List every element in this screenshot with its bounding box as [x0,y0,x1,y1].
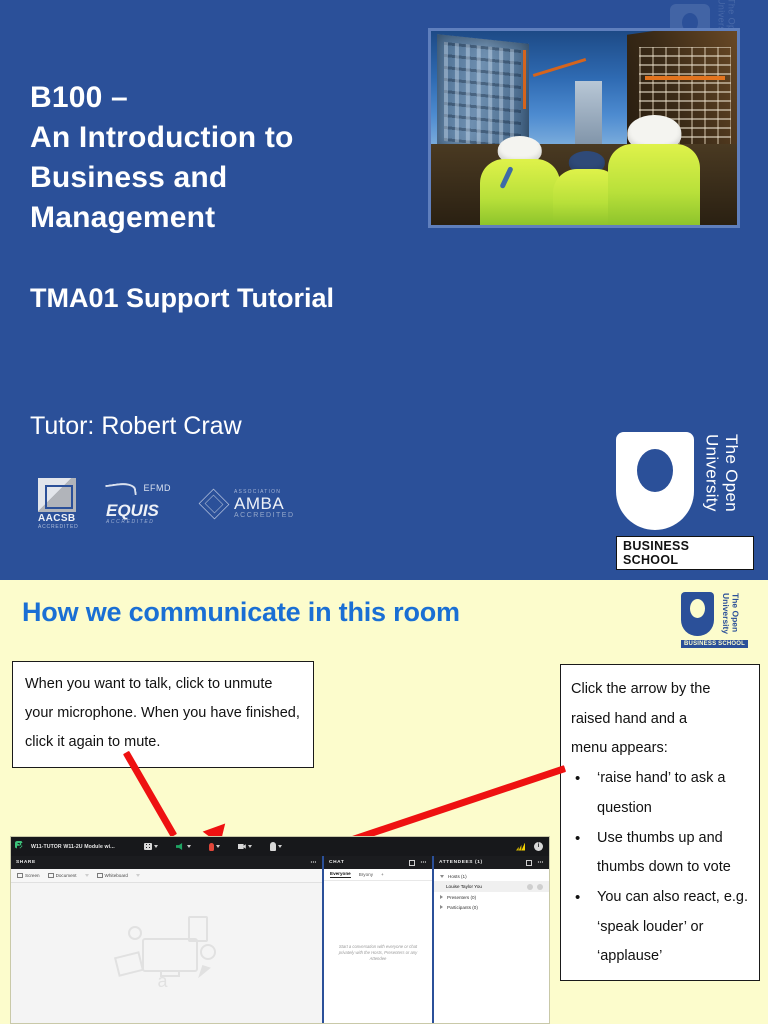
construction-site-photo [428,28,740,228]
chat-panel-header: CHAT ⋯ [324,856,432,869]
open-university-logo-small: The Open University BUSINESS SCHOOL [681,592,761,662]
attendees-group-label: Participants (0) [447,905,478,910]
share-toolbar: Screen Document Whiteboard [11,869,322,883]
microphone-icon [209,843,214,851]
attendees-list: Hosts (1) Louise Taylor You Presenters (… [434,869,549,1024]
share-document-label: Document [56,873,77,878]
app-body: SHARE ⋯ Screen Document Whiteboard [11,856,549,1024]
microphone-icon [537,884,543,890]
chat-panel-title: CHAT [329,860,344,865]
chevron-down-icon [248,845,252,848]
title-line-3: Business and [30,158,294,198]
amba-diamond-icon [199,489,230,520]
speaker-icon [176,843,185,850]
attendees-panel: ATTENDEES (1) ⋯ Hosts (1) Louise Taylor … [434,856,549,1024]
share-screen-button[interactable]: Screen [17,873,40,878]
callout-right-bullets: ‘raise hand’ to ask a question Use thumb… [571,764,751,972]
share-panel-header: SHARE ⋯ [11,856,322,869]
ou-shield-icon [616,432,694,530]
aacsb-label: AACSB [38,513,80,524]
photo-worker-3 [608,112,700,225]
chevron-down-icon [154,845,158,848]
document-icon [48,873,54,878]
accreditation-logos: AACSB ACCREDITED EFMD EQUIS ACCREDITED A… [38,478,298,530]
callout-right-line-2: raised hand and a [571,705,751,735]
share-panel-title: SHARE [16,860,36,865]
chevron-down-icon [187,845,191,848]
more-options-icon[interactable]: ⋯ [420,859,427,866]
photo-hi-vis-vest [608,144,700,225]
callout-microphone: When you want to talk, click to unmute y… [12,661,314,768]
efmd-label: EFMD [143,483,171,493]
aacsb-logo: AACSB ACCREDITED [38,478,80,530]
ou-shield-icon [681,592,714,636]
layout-button[interactable] [135,843,167,850]
callout-raise-hand: Click the arrow by the raised hand and a… [560,664,760,981]
equis-label: EQUIS [106,502,172,519]
person-icon [128,926,142,940]
attendees-group-participants[interactable]: Participants (0) [434,902,549,912]
collaborate-app-screenshot: W11-TUTOR W11-2U Module wi... [10,836,550,1024]
slide-subtitle: TMA01 Support Tutorial [30,283,334,314]
photo-worker-1 [480,136,560,225]
chat-tabs: Everyone Bryony + [324,869,432,881]
amba-sub: ACCREDITED [234,512,295,519]
share-canvas[interactable]: a [11,883,322,1024]
callout-right-line-3: menu appears: [571,734,751,764]
chevron-down-icon[interactable] [136,874,140,877]
info-icon[interactable]: i [534,842,543,851]
share-whiteboard-button[interactable]: Whiteboard [97,873,129,878]
more-options-icon[interactable]: ⋯ [537,859,544,866]
photo-tower-block [575,81,603,147]
attendee-name: Louise Taylor You [446,884,482,889]
equis-sub: ACCREDITED [106,519,172,525]
page-title: B100 – An Introduction to Business and M… [30,78,294,238]
list-item: Use thumbs up and thumbs down to vote [571,824,751,883]
tutor-name: Tutor: Robert Craw [30,412,242,441]
attendees-group-hosts[interactable]: Hosts (1) [434,871,549,881]
chevron-right-icon [440,905,443,909]
ou-logo-words: The Open University [720,593,740,662]
attendees-group-presenters[interactable]: Presenters (0) [434,892,549,902]
aacsb-mark-icon [38,478,76,512]
amba-logo: ASSOCIATION AMBA ACCREDITED [198,489,298,519]
title-line-1: B100 – [30,78,294,118]
network-status-icon[interactable] [516,843,525,851]
attendees-group-label: Hosts (1) [448,874,467,879]
photo-crane-mast [523,50,526,108]
share-screen-label: Screen [25,873,40,878]
monitor-icon [142,938,198,972]
ou-business-school-badge: BUSINESS SCHOOL [681,640,748,648]
session-title: W11-TUTOR W11-2U Module wi... [31,844,115,850]
play-icon [200,944,216,960]
camera-button[interactable] [229,843,261,850]
share-document-button[interactable]: Document [48,873,77,878]
microphone-button[interactable] [200,843,229,851]
amba-label: AMBA [234,495,295,512]
attendees-panel-title: ATTENDEES (1) [439,860,483,865]
audio-button[interactable] [167,843,200,850]
raise-hand-button[interactable] [261,842,291,851]
chat-panel-actions: ⋯ [409,859,427,866]
chat-empty-message: Start a conversation with everyone or ch… [332,944,424,963]
collaborate-logo-icon [15,841,26,852]
aacsb-sub: ACCREDITED [38,524,80,530]
tab-everyone[interactable]: Everyone [330,871,351,878]
raised-hand-icon [270,842,276,851]
monitor-icon [17,873,23,878]
callout-right-line-1: Click the arrow by the [571,675,751,705]
chevron-right-icon [440,895,443,899]
title-line-2: An Introduction to [30,118,294,158]
attendees-group-label: Presenters (0) [447,895,476,900]
app-toolbar: W11-TUTOR W11-2U Module wi... [11,837,549,856]
list-item: ‘raise hand’ to ask a question [571,764,751,823]
chat-body: Start a conversation with everyone or ch… [324,881,432,1024]
chat-panel: CHAT ⋯ Everyone Bryony + Start a convers… [324,856,434,1024]
share-whiteboard-label: Whiteboard [105,873,129,878]
slide2-title: How we communicate in this room [22,597,460,628]
share-placeholder-illustration: a [108,914,226,988]
attendees-panel-header: ATTENDEES (1) ⋯ [434,856,549,869]
open-university-business-school-logo: The Open University BUSINESS SCHOOL [616,432,754,560]
photo-orange-beam [645,76,725,80]
attendee-status-icons [527,884,543,890]
whiteboard-icon [97,873,103,878]
globe-icon [527,884,533,890]
share-panel: SHARE ⋯ Screen Document Whiteboard [11,856,324,1024]
share-panel-actions: ⋯ [310,859,317,866]
chevron-down-icon [440,875,444,878]
list-item[interactable]: Louise Taylor You [434,881,549,892]
grid-layout-icon [144,843,152,850]
cursor-icon [198,965,211,981]
equis-swoosh-icon [105,481,137,499]
chevron-down-icon[interactable] [85,874,89,877]
popout-icon[interactable] [526,860,532,866]
image-icon [113,951,143,977]
attendees-panel-actions: ⋯ [526,859,544,866]
chevron-down-icon [278,845,282,848]
chevron-down-icon [216,845,220,848]
camera-icon [238,843,246,850]
slide-title: The Open University OL [0,0,768,576]
toolbar-right-group: i [516,842,549,851]
photo-hi-vis-vest [480,159,560,225]
equis-logo: EFMD EQUIS ACCREDITED [106,483,172,525]
ou-business-school-badge: BUSINESS SCHOOL [616,536,754,570]
more-options-icon[interactable]: ⋯ [310,859,317,866]
title-line-4: Management [30,198,294,238]
list-item: You can also react, e.g. ‘speak louder’ … [571,883,751,972]
popout-icon[interactable] [409,860,415,866]
slide-deck-page: The Open University OL [0,0,768,1024]
text-icon: a [158,972,168,990]
tab-bryony[interactable]: Bryony [359,872,373,877]
add-chat-button[interactable]: + [381,872,384,877]
